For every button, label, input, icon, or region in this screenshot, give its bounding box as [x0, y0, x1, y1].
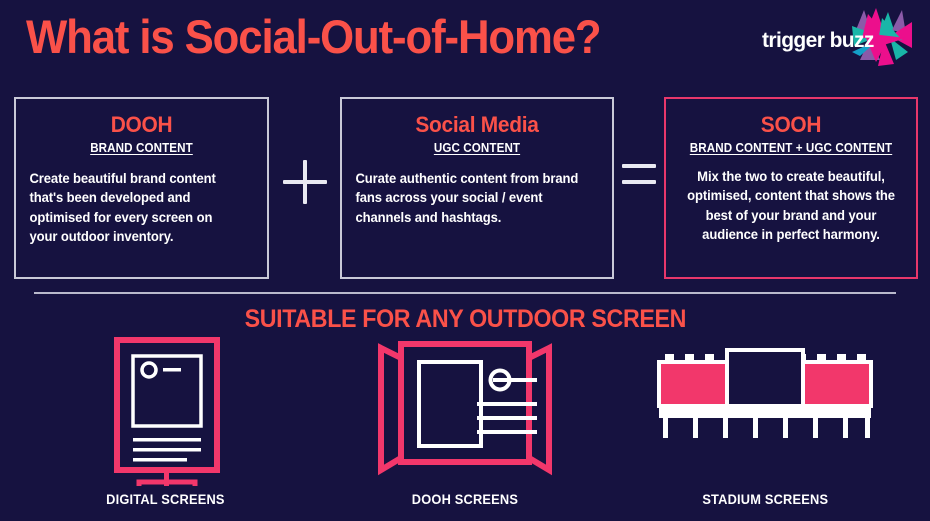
equals-sign-icon — [622, 160, 656, 190]
card-social-media-subheading: UGC CONTENT — [351, 141, 602, 155]
stadium-perimeter-board-icon — [645, 336, 885, 486]
card-sooh-subheading: BRAND CONTENT + UGC CONTENT — [675, 141, 908, 155]
logo-word-trigger: trigger — [762, 29, 824, 52]
section-divider — [34, 292, 896, 294]
screen-type-digital-label: DIGITAL SCREENS — [45, 492, 285, 507]
screen-type-dooh-label: DOOH SCREENS — [345, 492, 585, 507]
triptych-billboard-icon — [345, 336, 585, 486]
screen-type-stadium: STADIUM SCREENS — [645, 336, 885, 486]
card-sooh: SOOH BRAND CONTENT + UGC CONTENT Mix the… — [664, 97, 918, 279]
screen-type-dooh: DOOH SCREENS — [345, 336, 585, 486]
card-social-media: Social Media UGC CONTENT Curate authenti… — [340, 97, 614, 279]
section-title-text: SUITABLE FOR ANY OUTDOOR SCREEN — [244, 305, 685, 334]
concept-cards-row: DOOH BRAND CONTENT Create beautiful bran… — [0, 97, 930, 279]
logo-word-buzz: buzz — [830, 29, 874, 52]
card-dooh: DOOH BRAND CONTENT Create beautiful bran… — [14, 97, 269, 279]
card-sooh-heading: SOOH — [672, 99, 910, 138]
slide-canvas: What is Social-Out-of-Home? trigger — [0, 0, 930, 521]
card-social-media-body: Curate authentic content from brand fans… — [342, 155, 601, 227]
page-title: What is Social-Out-of-Home? — [26, 12, 601, 61]
plus-sign-icon — [283, 160, 327, 204]
trigger-buzz-logo: trigger buzz — [756, 8, 916, 70]
card-sooh-body: Mix the two to create beautiful, optimis… — [671, 155, 911, 244]
card-social-media-heading: Social Media — [349, 99, 606, 138]
desktop-monitor-icon — [45, 336, 285, 486]
section-title: SUITABLE FOR ANY OUTDOOR SCREEN — [0, 305, 930, 334]
screen-types-row: DIGITAL SCREENS — [0, 336, 930, 521]
logo-wordmark: trigger buzz — [762, 29, 874, 53]
screen-type-stadium-label: STADIUM SCREENS — [645, 492, 885, 507]
card-dooh-body: Create beautiful brand content that's be… — [16, 155, 257, 246]
card-dooh-subheading: BRAND CONTENT — [25, 141, 258, 155]
card-dooh-heading: DOOH — [22, 99, 260, 138]
screen-type-digital: DIGITAL SCREENS — [45, 336, 285, 486]
